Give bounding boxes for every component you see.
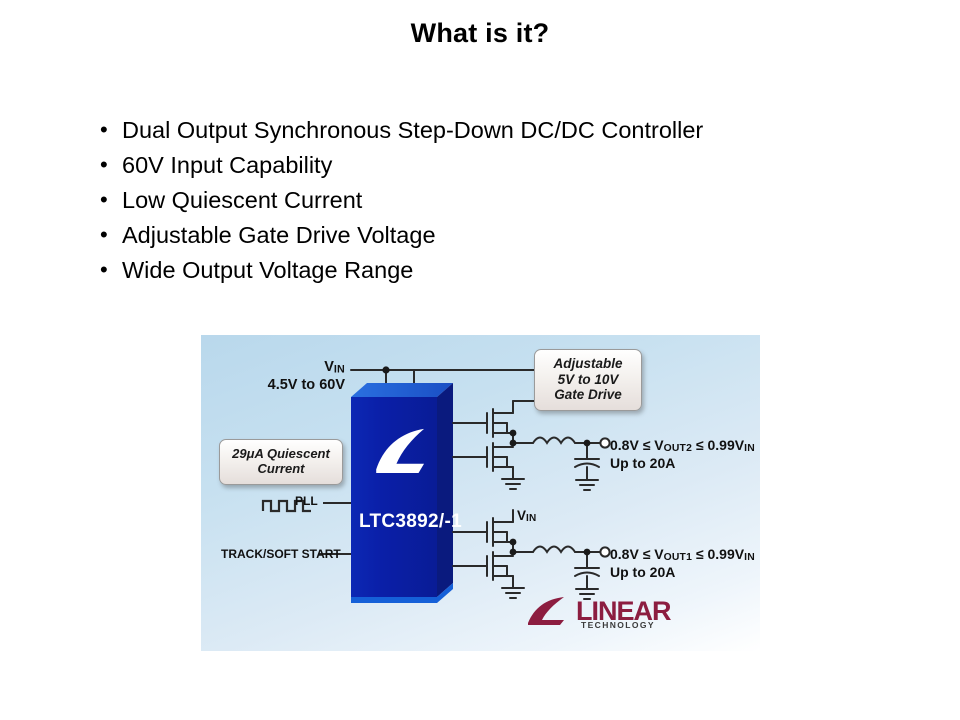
bullet-marker-icon: • xyxy=(100,115,122,145)
label-vout1-range: 0.8V ≤ VOUT1 ≤ 0.99VIN xyxy=(610,546,755,563)
label-vout1-current: Up to 20A xyxy=(610,564,675,580)
bullet-marker-icon: • xyxy=(100,185,122,215)
bullet-text: Wide Output Voltage Range xyxy=(122,255,413,285)
callout-line: 29μA Quiescent xyxy=(220,447,342,462)
label-vin-supply: VIN xyxy=(235,359,345,375)
callout-line: 5V to 10V xyxy=(535,372,641,388)
slide-root: What is it? • Dual Output Synchronous St… xyxy=(0,0,960,720)
page-title: What is it? xyxy=(0,18,960,49)
callout-line: Current xyxy=(220,462,342,477)
list-item: • Wide Output Voltage Range xyxy=(100,255,880,290)
linear-technology-logo: LINEAR TECHNOLOGY xyxy=(524,598,671,625)
label-vin-stage2: VIN xyxy=(517,508,536,524)
application-diagram-image: LTC3892/-1 29μA Quiescent Current Adjust… xyxy=(201,335,760,651)
callout-gate-drive: Adjustable 5V to 10V Gate Drive xyxy=(534,349,642,411)
list-item: • 60V Input Capability xyxy=(100,150,880,185)
list-item: • Dual Output Synchronous Step-Down DC/D… xyxy=(100,115,880,150)
callout-line: Gate Drive xyxy=(535,387,641,403)
callout-line: Adjustable xyxy=(535,356,641,372)
bullet-text: Dual Output Synchronous Step-Down DC/DC … xyxy=(122,115,703,145)
label-vin-range: 4.5V to 60V xyxy=(215,377,345,393)
bullet-text: 60V Input Capability xyxy=(122,150,332,180)
bullet-list: • Dual Output Synchronous Step-Down DC/D… xyxy=(100,115,880,290)
label-track-soft-start: TRACK/SOFT START xyxy=(221,547,341,561)
label-vout2-range: 0.8V ≤ VOUT2 ≤ 0.99VIN xyxy=(610,437,755,454)
bullet-marker-icon: • xyxy=(100,255,122,285)
callout-quiescent-current: 29μA Quiescent Current xyxy=(219,439,343,485)
brand-tagline: TECHNOLOGY xyxy=(581,621,655,630)
bullet-text: Adjustable Gate Drive Voltage xyxy=(122,220,436,250)
label-vout2-current: Up to 20A xyxy=(610,455,675,471)
list-item: • Low Quiescent Current xyxy=(100,185,880,220)
lt-swoosh-icon xyxy=(524,596,574,626)
list-item: • Adjustable Gate Drive Voltage xyxy=(100,220,880,255)
bullet-text: Low Quiescent Current xyxy=(122,185,362,215)
bullet-marker-icon: • xyxy=(100,150,122,180)
bullet-marker-icon: • xyxy=(100,220,122,250)
chip-part-number: LTC3892/-1 xyxy=(359,511,462,533)
label-pll: PLL xyxy=(295,494,318,508)
